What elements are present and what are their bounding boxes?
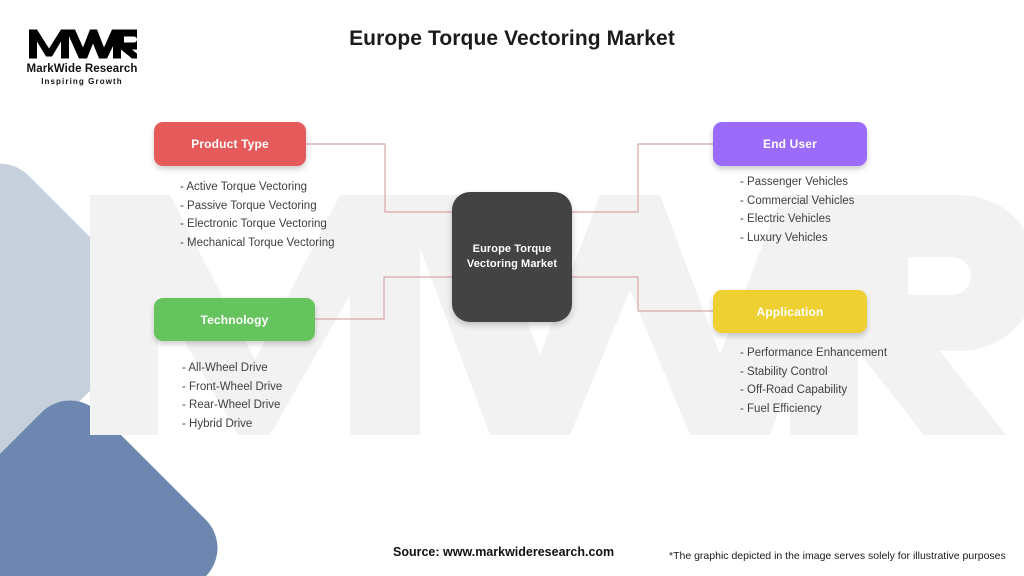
center-node: Europe Torque Vectoring Market [452, 192, 572, 322]
list-item: - Commercial Vehicles [740, 192, 854, 211]
list-item: - Luxury Vehicles [740, 229, 854, 248]
category-box-application[interactable]: Application [713, 290, 867, 333]
list-item: - Performance Enhancement [740, 344, 887, 363]
list-item: - Front-Wheel Drive [182, 378, 282, 397]
source-text: Source: www.markwideresearch.com [393, 545, 614, 559]
disclaimer-text: *The graphic depicted in the image serve… [669, 550, 1006, 562]
category-label-technology: Technology [201, 313, 269, 327]
list-item: - Fuel Efficiency [740, 400, 887, 419]
logo-name: MarkWide Research [17, 63, 147, 75]
center-node-line1: Europe Torque [473, 243, 552, 255]
list-item: - Active Torque Vectoring [180, 178, 335, 197]
category-label-product-type: Product Type [191, 137, 269, 151]
list-item: - Mechanical Torque Vectoring [180, 234, 335, 253]
center-node-line2: Vectoring Market [467, 258, 557, 270]
category-list-application: - Performance Enhancement - Stability Co… [740, 344, 887, 418]
infographic-canvas: MarkWide Research Inspiring Growth Europ… [0, 0, 1024, 576]
center-node-label: Europe Torque Vectoring Market [467, 242, 557, 272]
category-list-end-user: - Passenger Vehicles - Commercial Vehicl… [740, 173, 854, 247]
list-item: - Electronic Torque Vectoring [180, 215, 335, 234]
category-label-application: Application [757, 305, 824, 319]
list-item: - Hybrid Drive [182, 415, 282, 434]
list-item: - Passive Torque Vectoring [180, 197, 335, 216]
category-box-product-type[interactable]: Product Type [154, 122, 306, 166]
list-item: - Off-Road Capability [740, 381, 887, 400]
page-title: Europe Torque Vectoring Market [0, 27, 1024, 51]
category-list-technology: - All-Wheel Drive - Front-Wheel Drive - … [182, 359, 282, 433]
list-item: - Stability Control [740, 363, 887, 382]
list-item: - All-Wheel Drive [182, 359, 282, 378]
category-box-technology[interactable]: Technology [154, 298, 315, 341]
list-item: - Electric Vehicles [740, 210, 854, 229]
category-box-end-user[interactable]: End User [713, 122, 867, 166]
list-item: - Rear-Wheel Drive [182, 396, 282, 415]
logo-tagline: Inspiring Growth [17, 77, 147, 86]
category-list-product-type: - Active Torque Vectoring - Passive Torq… [180, 178, 335, 252]
list-item: - Passenger Vehicles [740, 173, 854, 192]
category-label-end-user: End User [763, 137, 817, 151]
